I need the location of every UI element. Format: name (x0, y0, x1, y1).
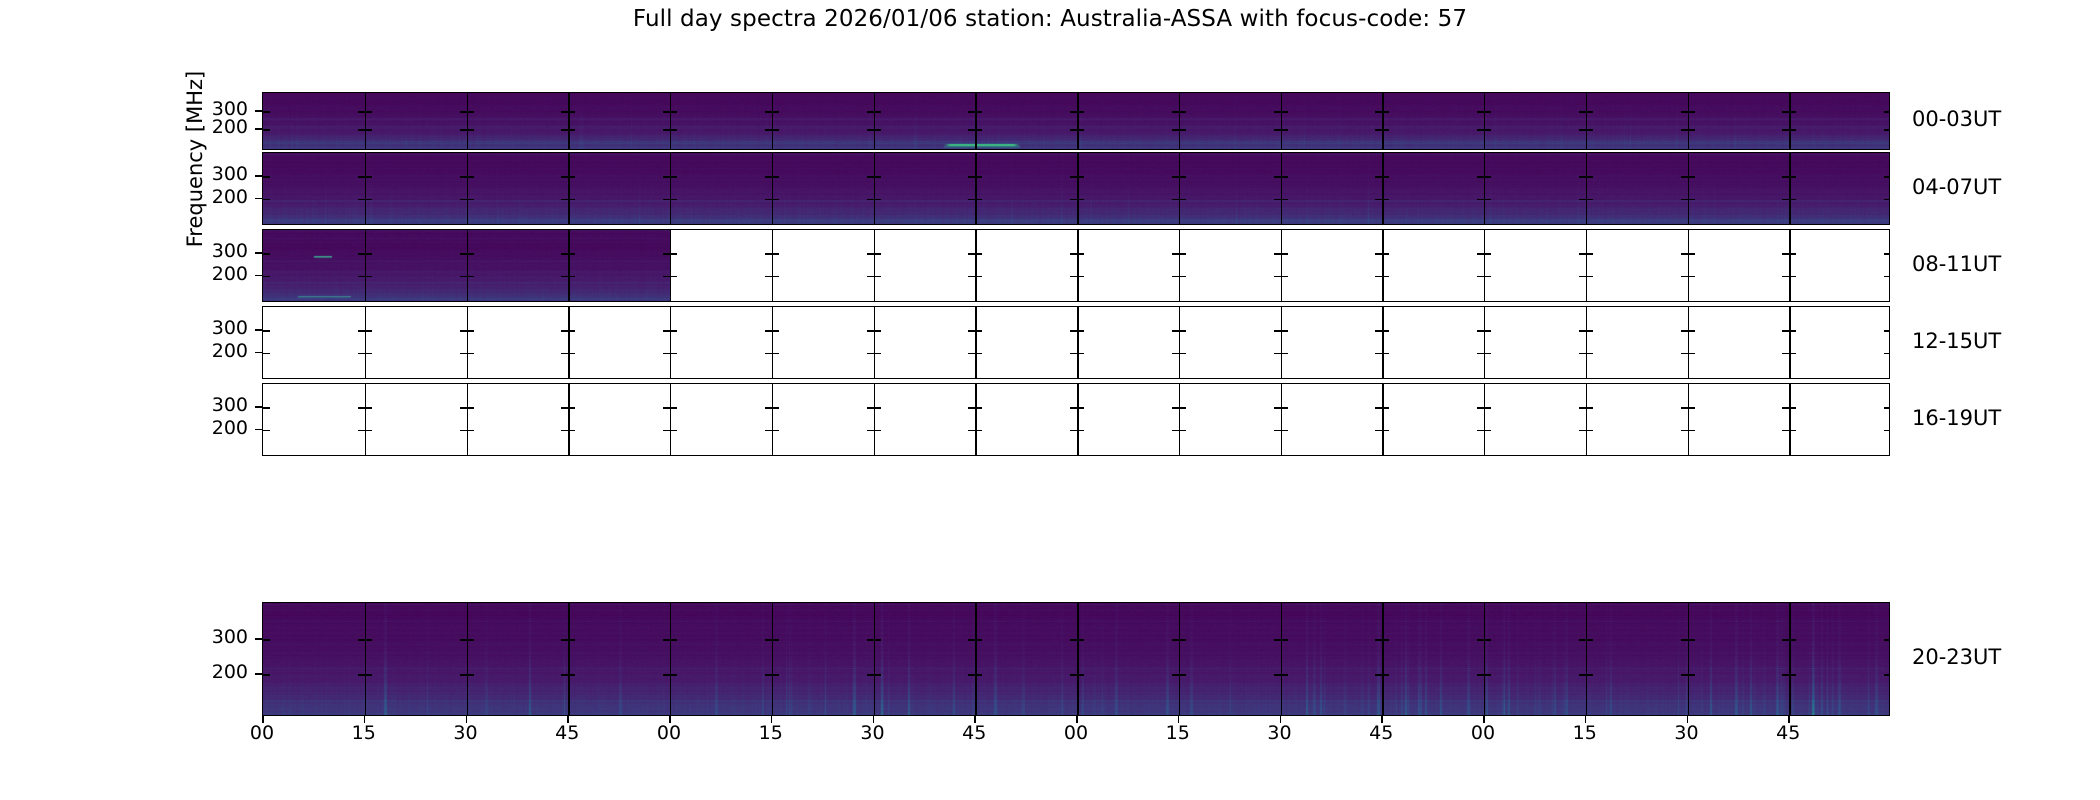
axis-tick (358, 353, 365, 355)
spectrogram-row[interactable] (262, 92, 1890, 150)
axis-tick (1382, 407, 1389, 409)
axis-tick (1579, 253, 1586, 255)
spectrogram-image (263, 603, 1890, 715)
axis-tick (765, 407, 772, 409)
axis-tick (1789, 407, 1796, 409)
axis-tick (670, 353, 677, 355)
axis-tick (263, 330, 270, 332)
subpanel-grid (263, 384, 1889, 455)
axis-tick (1484, 407, 1491, 409)
axis-tick (1179, 430, 1186, 432)
axis-tick (568, 330, 575, 332)
subpanel-divider (365, 307, 366, 378)
axis-tick (1375, 276, 1382, 278)
subpanel-divider (1586, 384, 1587, 455)
x-tick-label: 00 (250, 722, 274, 744)
axis-tick (1172, 407, 1179, 409)
axis-tick (867, 353, 874, 355)
y-tick-mark (255, 638, 262, 640)
subpanel-divider (1179, 307, 1180, 378)
subpanel-divider (1281, 384, 1282, 455)
y-axis-label: Frequency [MHz] (183, 29, 207, 289)
axis-tick (874, 330, 881, 332)
axis-tick (1782, 276, 1789, 278)
axis-tick (358, 330, 365, 332)
axis-tick (1884, 253, 1890, 255)
axis-tick (765, 253, 772, 255)
subpanel-divider (1789, 230, 1790, 301)
axis-tick (1274, 253, 1281, 255)
y-tick-label: 200 (212, 116, 248, 138)
axis-tick (1586, 430, 1593, 432)
subpanel-divider (1077, 230, 1079, 301)
row-label: 12-15UT (1912, 329, 2001, 353)
y-tick-mark (255, 175, 262, 177)
figure-canvas: Full day spectra 2026/01/06 station: Aus… (0, 0, 2100, 800)
axis-tick (1070, 407, 1077, 409)
x-tick-label: 30 (1674, 722, 1698, 744)
axis-tick (663, 330, 670, 332)
spectrogram-image (263, 153, 1890, 224)
axis-tick (1586, 353, 1593, 355)
axis-tick (1884, 407, 1890, 409)
subpanel-divider (1281, 230, 1282, 301)
page-title: Full day spectra 2026/01/06 station: Aus… (0, 6, 2100, 32)
axis-tick (1382, 276, 1389, 278)
axis-tick (772, 276, 779, 278)
axis-tick (467, 430, 474, 432)
axis-tick (1477, 253, 1484, 255)
axis-tick (1477, 276, 1484, 278)
row-label: 00-03UT (1912, 107, 2001, 131)
subpanel-divider (772, 384, 773, 455)
axis-tick (975, 276, 982, 278)
axis-tick (1077, 253, 1084, 255)
subpanel-divider (365, 384, 366, 455)
axis-tick (1179, 330, 1186, 332)
axis-tick (1070, 253, 1077, 255)
axis-tick (1070, 353, 1077, 355)
axis-tick (460, 430, 467, 432)
axis-tick (1179, 276, 1186, 278)
axis-tick (1586, 253, 1593, 255)
axis-tick (1281, 330, 1288, 332)
axis-tick (874, 430, 881, 432)
axis-tick (568, 430, 575, 432)
subpanel-divider (975, 307, 976, 378)
axis-tick (263, 407, 270, 409)
subpanel-divider (874, 307, 875, 378)
axis-tick (1681, 330, 1688, 332)
axis-tick (1789, 276, 1796, 278)
y-tick-mark (255, 406, 262, 408)
x-tick-label: 15 (352, 722, 376, 744)
axis-tick (968, 407, 975, 409)
axis-tick (765, 276, 772, 278)
axis-tick (663, 407, 670, 409)
y-tick-mark (255, 329, 262, 331)
axis-tick (1077, 430, 1084, 432)
x-tick-label: 45 (1776, 722, 1800, 744)
y-tick-label: 200 (212, 263, 248, 285)
y-tick-label: 300 (212, 163, 248, 185)
axis-tick (1782, 407, 1789, 409)
axis-tick (1688, 276, 1695, 278)
axis-tick (968, 353, 975, 355)
y-tick-label: 200 (212, 340, 248, 362)
axis-tick (867, 430, 874, 432)
axis-tick (1172, 253, 1179, 255)
x-tick-label: 45 (962, 722, 986, 744)
axis-tick (568, 353, 575, 355)
axis-tick (1382, 253, 1389, 255)
subpanel-divider (874, 384, 875, 455)
axis-tick (1688, 353, 1695, 355)
axis-tick (772, 407, 779, 409)
axis-tick (1477, 407, 1484, 409)
subpanel-divider (975, 384, 976, 455)
axis-tick (1375, 430, 1382, 432)
subpanel-grid (263, 307, 1889, 378)
axis-tick (1782, 253, 1789, 255)
axis-tick (1070, 330, 1077, 332)
subpanel-divider (1586, 307, 1587, 378)
axis-tick (1681, 407, 1688, 409)
axis-tick (1172, 330, 1179, 332)
axis-tick (365, 353, 372, 355)
x-tick-label: 45 (555, 722, 579, 744)
axis-tick (975, 253, 982, 255)
subpanel-divider (772, 230, 773, 301)
axis-tick (1179, 253, 1186, 255)
axis-tick (1782, 430, 1789, 432)
x-tick-label: 45 (1369, 722, 1393, 744)
subpanel-divider (1179, 230, 1180, 301)
axis-tick (1484, 330, 1491, 332)
axis-tick (460, 407, 467, 409)
axis-tick (561, 353, 568, 355)
axis-tick (765, 330, 772, 332)
subpanel-divider (772, 307, 773, 378)
axis-tick (663, 430, 670, 432)
axis-tick (1586, 276, 1593, 278)
axis-tick (1688, 407, 1695, 409)
axis-tick (867, 330, 874, 332)
spectrogram-row[interactable] (262, 383, 1890, 456)
axis-tick (772, 253, 779, 255)
axis-tick (968, 253, 975, 255)
x-tick-label: 30 (860, 722, 884, 744)
axis-tick (1789, 330, 1796, 332)
axis-tick (867, 276, 874, 278)
axis-tick (1281, 407, 1288, 409)
spectrogram-image (263, 93, 1890, 149)
axis-tick (1579, 430, 1586, 432)
axis-tick (968, 430, 975, 432)
row-label: 08-11UT (1912, 252, 2001, 276)
axis-tick (460, 353, 467, 355)
subpanel-divider (1179, 384, 1180, 455)
x-tick-label: 15 (1573, 722, 1597, 744)
y-tick-label: 300 (212, 394, 248, 416)
axis-tick (765, 430, 772, 432)
axis-tick (1179, 407, 1186, 409)
axis-tick (1579, 353, 1586, 355)
axis-tick (1484, 276, 1491, 278)
axis-tick (1484, 253, 1491, 255)
axis-tick (358, 430, 365, 432)
axis-tick (1782, 330, 1789, 332)
axis-tick (1382, 330, 1389, 332)
axis-tick (561, 430, 568, 432)
subpanel-divider (568, 307, 569, 378)
y-tick-mark (255, 673, 262, 675)
row-label: 16-19UT (1912, 406, 2001, 430)
axis-tick (1884, 330, 1890, 332)
axis-tick (975, 330, 982, 332)
axis-tick (765, 353, 772, 355)
y-tick-label: 300 (212, 240, 248, 262)
axis-tick (1789, 253, 1796, 255)
x-tick-label: 00 (1471, 722, 1495, 744)
axis-tick (1579, 330, 1586, 332)
axis-tick (568, 407, 575, 409)
axis-tick (1274, 430, 1281, 432)
subpanel-divider (1382, 384, 1383, 455)
axis-tick (1077, 276, 1084, 278)
axis-tick (1070, 276, 1077, 278)
y-tick-mark (255, 275, 262, 277)
axis-tick (867, 407, 874, 409)
axis-tick (670, 330, 677, 332)
spectrogram-pixels (263, 230, 670, 301)
axis-tick (1579, 407, 1586, 409)
axis-tick (1070, 430, 1077, 432)
y-tick-label: 200 (212, 661, 248, 683)
axis-tick (1884, 276, 1890, 278)
y-tick-label: 200 (212, 417, 248, 439)
spectrogram-pixels (263, 93, 1890, 149)
axis-tick (874, 407, 881, 409)
axis-tick (968, 330, 975, 332)
axis-tick (467, 353, 474, 355)
axis-tick (1688, 330, 1695, 332)
axis-tick (1681, 276, 1688, 278)
axis-tick (670, 276, 677, 278)
subpanel-divider (1688, 384, 1689, 455)
subpanel-divider (1586, 230, 1587, 301)
subpanel-divider (467, 307, 468, 378)
axis-tick (561, 330, 568, 332)
axis-tick (874, 353, 881, 355)
axis-tick (1375, 253, 1382, 255)
subpanel-divider (1382, 230, 1383, 301)
axis-tick (1782, 353, 1789, 355)
axis-tick (365, 430, 372, 432)
axis-tick (1179, 353, 1186, 355)
y-tick-mark (255, 429, 262, 431)
y-tick-mark (255, 128, 262, 130)
axis-tick (772, 430, 779, 432)
subpanel-divider (670, 384, 671, 455)
axis-tick (975, 407, 982, 409)
axis-tick (874, 253, 881, 255)
axis-tick (1477, 430, 1484, 432)
subpanel-divider (467, 384, 468, 455)
axis-tick (1281, 353, 1288, 355)
axis-tick (365, 407, 372, 409)
spectrogram-image (263, 230, 670, 301)
subpanel-divider (670, 230, 671, 301)
y-tick-label: 300 (212, 626, 248, 648)
subpanel-divider (1789, 307, 1790, 378)
subpanel-divider (975, 230, 976, 301)
axis-tick (1274, 407, 1281, 409)
y-tick-mark (255, 198, 262, 200)
axis-tick (1274, 330, 1281, 332)
x-tick-label: 00 (657, 722, 681, 744)
axis-tick (263, 353, 270, 355)
axis-tick (1382, 353, 1389, 355)
subpanel-divider (1077, 307, 1079, 378)
y-tick-mark (255, 110, 262, 112)
axis-tick (1172, 430, 1179, 432)
subpanel-divider (670, 307, 671, 378)
axis-tick (1382, 430, 1389, 432)
axis-tick (1172, 276, 1179, 278)
axis-tick (1789, 353, 1796, 355)
y-tick-mark (255, 352, 262, 354)
axis-tick (1172, 353, 1179, 355)
axis-tick (874, 276, 881, 278)
axis-tick (1281, 276, 1288, 278)
row-label: 04-07UT (1912, 175, 2001, 199)
subpanel-divider (1281, 307, 1282, 378)
axis-tick (1789, 430, 1796, 432)
axis-tick (1281, 253, 1288, 255)
subpanel-divider (874, 230, 875, 301)
axis-tick (1274, 276, 1281, 278)
x-tick-label: 00 (1064, 722, 1088, 744)
x-tick-label: 15 (1166, 722, 1190, 744)
y-tick-label: 300 (212, 317, 248, 339)
axis-tick (1681, 253, 1688, 255)
axis-tick (1375, 330, 1382, 332)
spectrogram-pixels (263, 603, 1890, 715)
axis-tick (1477, 330, 1484, 332)
subpanel-divider (1484, 384, 1485, 455)
axis-tick (1586, 407, 1593, 409)
subpanel-divider (1789, 384, 1790, 455)
axis-tick (1077, 407, 1084, 409)
axis-tick (1681, 430, 1688, 432)
row-label: 20-23UT (1912, 645, 2001, 669)
axis-tick (1884, 353, 1890, 355)
axis-tick (1375, 407, 1382, 409)
subpanel-divider (1688, 230, 1689, 301)
axis-tick (772, 330, 779, 332)
axis-tick (1077, 353, 1084, 355)
axis-tick (1579, 276, 1586, 278)
axis-tick (1477, 353, 1484, 355)
x-tick-label: 30 (453, 722, 477, 744)
subpanel-divider (1077, 384, 1079, 455)
axis-tick (1281, 430, 1288, 432)
axis-tick (467, 407, 474, 409)
subpanel-divider (1688, 307, 1689, 378)
y-tick-label: 200 (212, 186, 248, 208)
axis-tick (561, 407, 568, 409)
x-tick-label: 30 (1267, 722, 1291, 744)
axis-tick (670, 407, 677, 409)
spectrogram-row[interactable] (262, 602, 1890, 716)
axis-tick (670, 430, 677, 432)
axis-tick (1484, 353, 1491, 355)
axis-tick (358, 407, 365, 409)
subpanel-divider (1484, 230, 1485, 301)
y-tick-mark (255, 252, 262, 254)
spectrogram-pixels (263, 153, 1890, 224)
axis-tick (968, 276, 975, 278)
axis-tick (975, 430, 982, 432)
axis-tick (460, 330, 467, 332)
axis-tick (975, 353, 982, 355)
axis-tick (1688, 430, 1695, 432)
x-tick-label: 15 (759, 722, 783, 744)
axis-tick (670, 253, 677, 255)
subpanel-divider (1382, 307, 1383, 378)
axis-tick (1484, 430, 1491, 432)
axis-tick (1274, 353, 1281, 355)
spectrogram-row[interactable] (262, 306, 1890, 379)
axis-tick (1077, 330, 1084, 332)
axis-tick (467, 330, 474, 332)
axis-tick (365, 330, 372, 332)
spectrogram-row[interactable] (262, 152, 1890, 225)
axis-tick (1375, 353, 1382, 355)
axis-tick (263, 430, 270, 432)
axis-tick (772, 353, 779, 355)
axis-tick (1681, 353, 1688, 355)
axis-tick (1884, 430, 1890, 432)
subpanel-divider (568, 384, 569, 455)
axis-tick (867, 253, 874, 255)
axis-tick (1586, 330, 1593, 332)
spectrogram-row[interactable] (262, 229, 1890, 302)
axis-tick (1688, 253, 1695, 255)
axis-tick (663, 353, 670, 355)
subpanel-divider (1484, 307, 1485, 378)
